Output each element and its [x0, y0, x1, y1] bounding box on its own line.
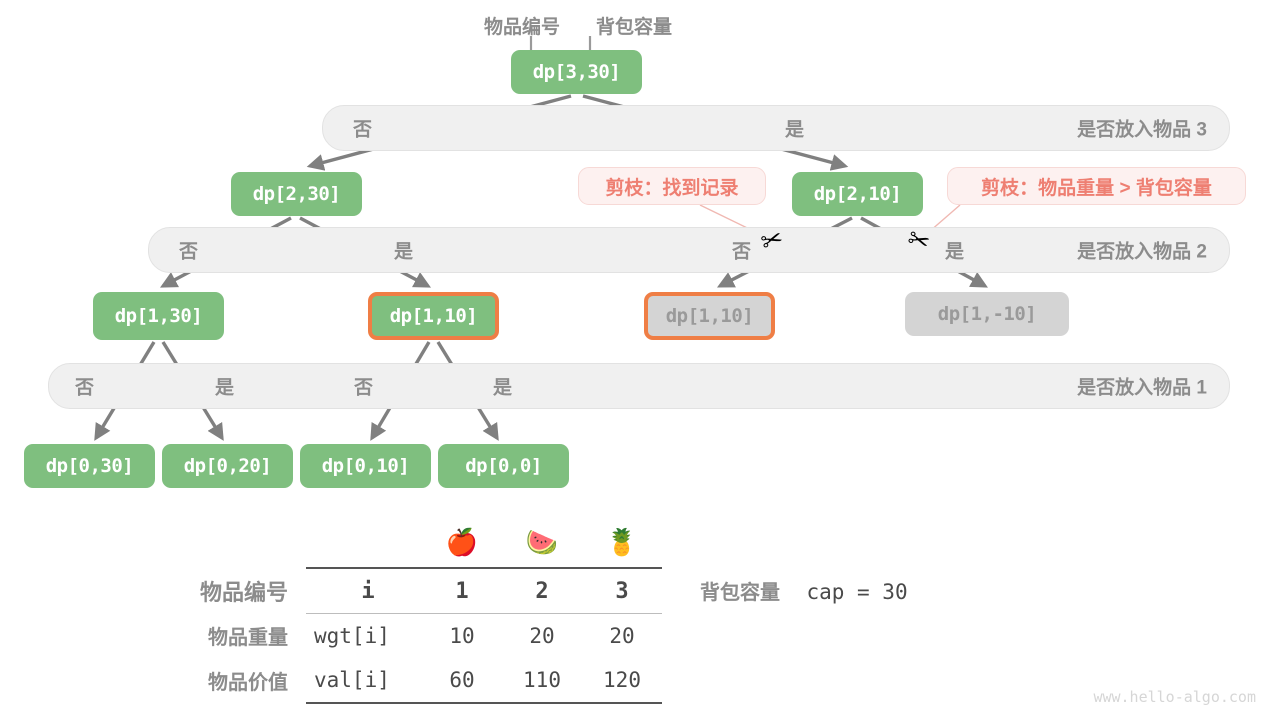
cell-index-2: 2 [502, 568, 582, 614]
decision-band-item-2: 否 是 否 是 是否放入物品 2 [148, 227, 1230, 273]
band-label-no-1: 否 [179, 237, 198, 264]
callout-weight-exceeds: 剪枝：物品重量 > 背包容量 [947, 167, 1246, 205]
row-header-item-value: 物品价值 [160, 658, 306, 703]
diagram-canvas: 物品编号 背包容量 否 是 是否放入物品 3 否 是 否 是 是否放入物品 2 … [0, 0, 1280, 720]
tree-node-dp-0-10[interactable]: dp[0,10] [300, 444, 431, 488]
tree-node-dp-2-30[interactable]: dp[2,30] [231, 172, 362, 216]
cell-val-3: 120 [582, 658, 662, 703]
fruit-icon-pineapple: 🍍 [582, 516, 662, 568]
tree-node-dp-1-30[interactable]: dp[1,30] [93, 292, 224, 340]
tree-node-dp-2-10[interactable]: dp[2,10] [792, 172, 923, 216]
tree-node-dp-0-20[interactable]: dp[0,20] [162, 444, 293, 488]
row-header-item-index: 物品编号 [160, 568, 306, 614]
row-header-item-weight: 物品重量 [160, 614, 306, 659]
band-title-item-2: 是否放入物品 2 [1077, 237, 1207, 264]
cell-index-3: 3 [582, 568, 662, 614]
band-label-yes-2: 是 [945, 237, 964, 264]
items-table: 🍎 🍉 🍍 物品编号 i 1 2 3 物品重量 wgt[i] 10 20 20 … [160, 516, 662, 704]
decision-band-item-1: 否 是 否 是 是否放入物品 1 [48, 363, 1230, 409]
decision-band-item-3: 否 是 是否放入物品 3 [322, 105, 1230, 151]
table-row-index: 物品编号 i 1 2 3 [160, 568, 662, 614]
band-label-no-2: 否 [732, 237, 751, 264]
row-label-i: i [306, 568, 422, 614]
band-title-item-1: 是否放入物品 1 [1077, 373, 1207, 400]
capacity-note: 背包容量 cap = 30 [700, 576, 908, 605]
band-label-no-b: 否 [354, 373, 373, 400]
table-row-fruits: 🍎 🍉 🍍 [160, 516, 662, 568]
capacity-note-value: cap = 30 [806, 580, 907, 604]
tree-node-dp-3-30[interactable]: dp[3,30] [511, 50, 642, 94]
table-row-value: 物品价值 val[i] 60 110 120 [160, 658, 662, 703]
band-label-yes-b: 是 [493, 373, 512, 400]
band-label-yes-a: 是 [215, 373, 234, 400]
cell-val-2: 110 [502, 658, 582, 703]
band-label-no: 否 [353, 115, 372, 142]
cell-index-1: 1 [422, 568, 502, 614]
capacity-note-label: 背包容量 [700, 582, 780, 604]
header-label-capacity: 背包容量 [596, 12, 672, 39]
watermark: www.hello-algo.com [1093, 688, 1256, 706]
band-label-yes-1: 是 [394, 237, 413, 264]
cell-wgt-1: 10 [422, 614, 502, 659]
fruit-icon-watermelon: 🍉 [502, 516, 582, 568]
tree-node-dp-0-0[interactable]: dp[0,0] [438, 444, 569, 488]
fruit-icon-apple: 🍎 [422, 516, 502, 568]
cell-wgt-3: 20 [582, 614, 662, 659]
header-label-item-index: 物品编号 [484, 12, 560, 39]
row-label-val: val[i] [306, 658, 422, 703]
tree-node-dp-0-30[interactable]: dp[0,30] [24, 444, 155, 488]
band-label-no-a: 否 [75, 373, 94, 400]
cell-val-1: 60 [422, 658, 502, 703]
tree-node-dp-1-10-source[interactable]: dp[1,10] [368, 292, 499, 340]
callout-memo-hit: 剪枝：找到记录 [578, 167, 766, 205]
band-title-item-3: 是否放入物品 3 [1077, 115, 1207, 142]
table-row-weight: 物品重量 wgt[i] 10 20 20 [160, 614, 662, 659]
row-label-wgt: wgt[i] [306, 614, 422, 659]
cell-wgt-2: 20 [502, 614, 582, 659]
tree-node-dp-1-neg10[interactable]: dp[1,-10] [905, 292, 1069, 336]
tree-node-dp-1-10-memo[interactable]: dp[1,10] [644, 292, 775, 340]
band-label-yes: 是 [785, 115, 804, 142]
